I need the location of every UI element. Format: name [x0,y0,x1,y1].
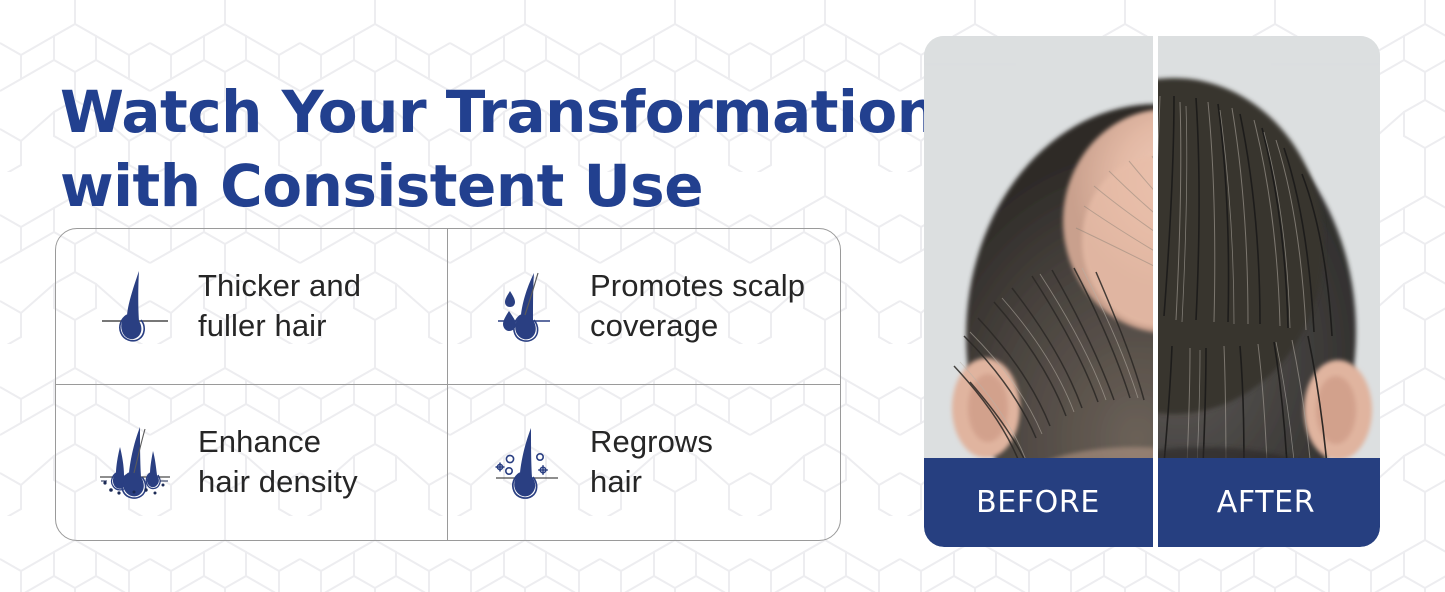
hair-follicle-icon [98,265,172,347]
feature-cell-thicker-fuller-hair: Thicker and fuller hair [56,229,448,385]
feature-cell-enhance-hair-density: Enhance hair density [56,385,448,541]
feature-cell-promotes-scalp-coverage: Promotes scalp coverage [448,229,840,385]
before-after-panel: BEFORE AFTER [924,36,1380,547]
page-title-line-1: Watch Your Transformation [60,75,880,149]
before-after-photo [924,36,1380,491]
hair-follicle-density-icon [98,421,172,503]
page-title: Watch Your Transformation with Consisten… [60,75,880,223]
feature-label: Thicker and fuller hair [198,266,361,347]
hair-follicle-regrowth-icon [490,421,564,503]
before-label: BEFORE [924,458,1152,547]
feature-label: Enhance hair density [198,422,358,503]
feature-cell-regrows-hair: Regrows hair [448,385,840,541]
feature-grid: Thicker and fuller hair Promotes scalp c… [55,228,841,541]
before-after-photo-divider [1153,36,1158,491]
hair-follicle-droplets-icon [490,265,564,347]
page-title-line-2: with Consistent Use [60,149,880,223]
before-after-label-bar: BEFORE AFTER [924,458,1380,547]
feature-label: Regrows hair [590,422,713,503]
after-label: AFTER [1152,458,1380,547]
before-after-label-divider [1153,458,1158,547]
feature-label: Promotes scalp coverage [590,266,805,347]
